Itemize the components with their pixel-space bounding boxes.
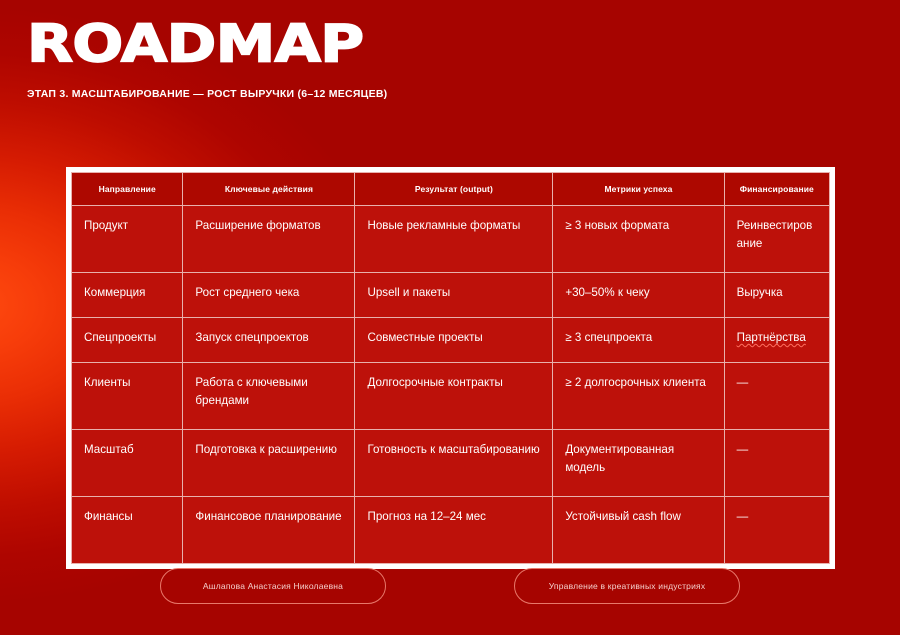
cell-direction: Коммерция [72, 273, 183, 318]
cell-metrics: Документированная модель [553, 430, 724, 497]
cell-metrics: +30–50% к чеку [553, 273, 724, 318]
cell-funding: Реинвестирование [724, 206, 829, 273]
cell-output: Upsell и пакеты [355, 273, 553, 318]
roadmap-table-frame: Направление Ключевые действия Результат … [66, 167, 835, 569]
column-header-output: Результат (output) [355, 173, 553, 206]
cell-output: Прогноз на 12–24 мес [355, 497, 553, 564]
footer-author-pill: Ашлапова Анастасия Николаевна [160, 568, 386, 604]
cell-output: Новые рекламные форматы [355, 206, 553, 273]
cell-output: Совместные проекты [355, 318, 553, 363]
table-header-row: Направление Ключевые действия Результат … [72, 173, 830, 206]
cell-funding: Выручка [724, 273, 829, 318]
cell-funding: Партнёрства [724, 318, 829, 363]
column-header-funding: Финансирование [724, 173, 829, 206]
cell-metrics: ≥ 2 долгосрочных клиента [553, 363, 724, 430]
table-row: Клиенты Работа с ключевыми брендами Долг… [72, 363, 830, 430]
cell-metrics: ≥ 3 новых формата [553, 206, 724, 273]
table-row: Спецпроекты Запуск спецпроектов Совместн… [72, 318, 830, 363]
slide-header: ROADMAP ЭТАП 3. МАСШТАБИРОВАНИЕ — РОСТ В… [27, 18, 867, 100]
slide-footer: Ашлапова Анастасия Николаевна Управление… [0, 566, 900, 608]
cell-direction: Клиенты [72, 363, 183, 430]
table-row: Коммерция Рост среднего чека Upsell и па… [72, 273, 830, 318]
column-header-direction: Направление [72, 173, 183, 206]
table-row: Масштаб Подготовка к расширению Готовнос… [72, 430, 830, 497]
cell-actions: Расширение форматов [183, 206, 355, 273]
footer-program-pill: Управление в креативных индустриях [514, 568, 740, 604]
cell-actions: Рост среднего чека [183, 273, 355, 318]
cell-funding: — [724, 363, 829, 430]
cell-direction: Масштаб [72, 430, 183, 497]
cell-output: Долгосрочные контракты [355, 363, 553, 430]
cell-output: Готовность к масштабированию [355, 430, 553, 497]
roadmap-table: Направление Ключевые действия Результат … [71, 172, 830, 564]
page-title: ROADMAP [27, 18, 900, 70]
table-body: Продукт Расширение форматов Новые реклам… [72, 206, 830, 564]
column-header-metrics: Метрики успеха [553, 173, 724, 206]
cell-actions: Запуск спецпроектов [183, 318, 355, 363]
cell-direction: Финансы [72, 497, 183, 564]
cell-funding-text: Партнёрства [737, 331, 806, 344]
cell-metrics: ≥ 3 спецпроекта [553, 318, 724, 363]
cell-actions: Работа с ключевыми брендами [183, 363, 355, 430]
column-header-actions: Ключевые действия [183, 173, 355, 206]
slide-canvas: ROADMAP ЭТАП 3. МАСШТАБИРОВАНИЕ — РОСТ В… [0, 0, 900, 635]
table-header: Направление Ключевые действия Результат … [72, 173, 830, 206]
cell-actions: Финансовое планирование [183, 497, 355, 564]
cell-actions: Подготовка к расширению [183, 430, 355, 497]
cell-metrics: Устойчивый cash flow [553, 497, 724, 564]
table-row: Продукт Расширение форматов Новые реклам… [72, 206, 830, 273]
table-row: Финансы Финансовое планирование Прогноз … [72, 497, 830, 564]
cell-direction: Продукт [72, 206, 183, 273]
cell-direction: Спецпроекты [72, 318, 183, 363]
cell-funding: — [724, 497, 829, 564]
cell-funding: — [724, 430, 829, 497]
page-subtitle: ЭТАП 3. МАСШТАБИРОВАНИЕ — РОСТ ВЫРУЧКИ (… [27, 88, 867, 100]
